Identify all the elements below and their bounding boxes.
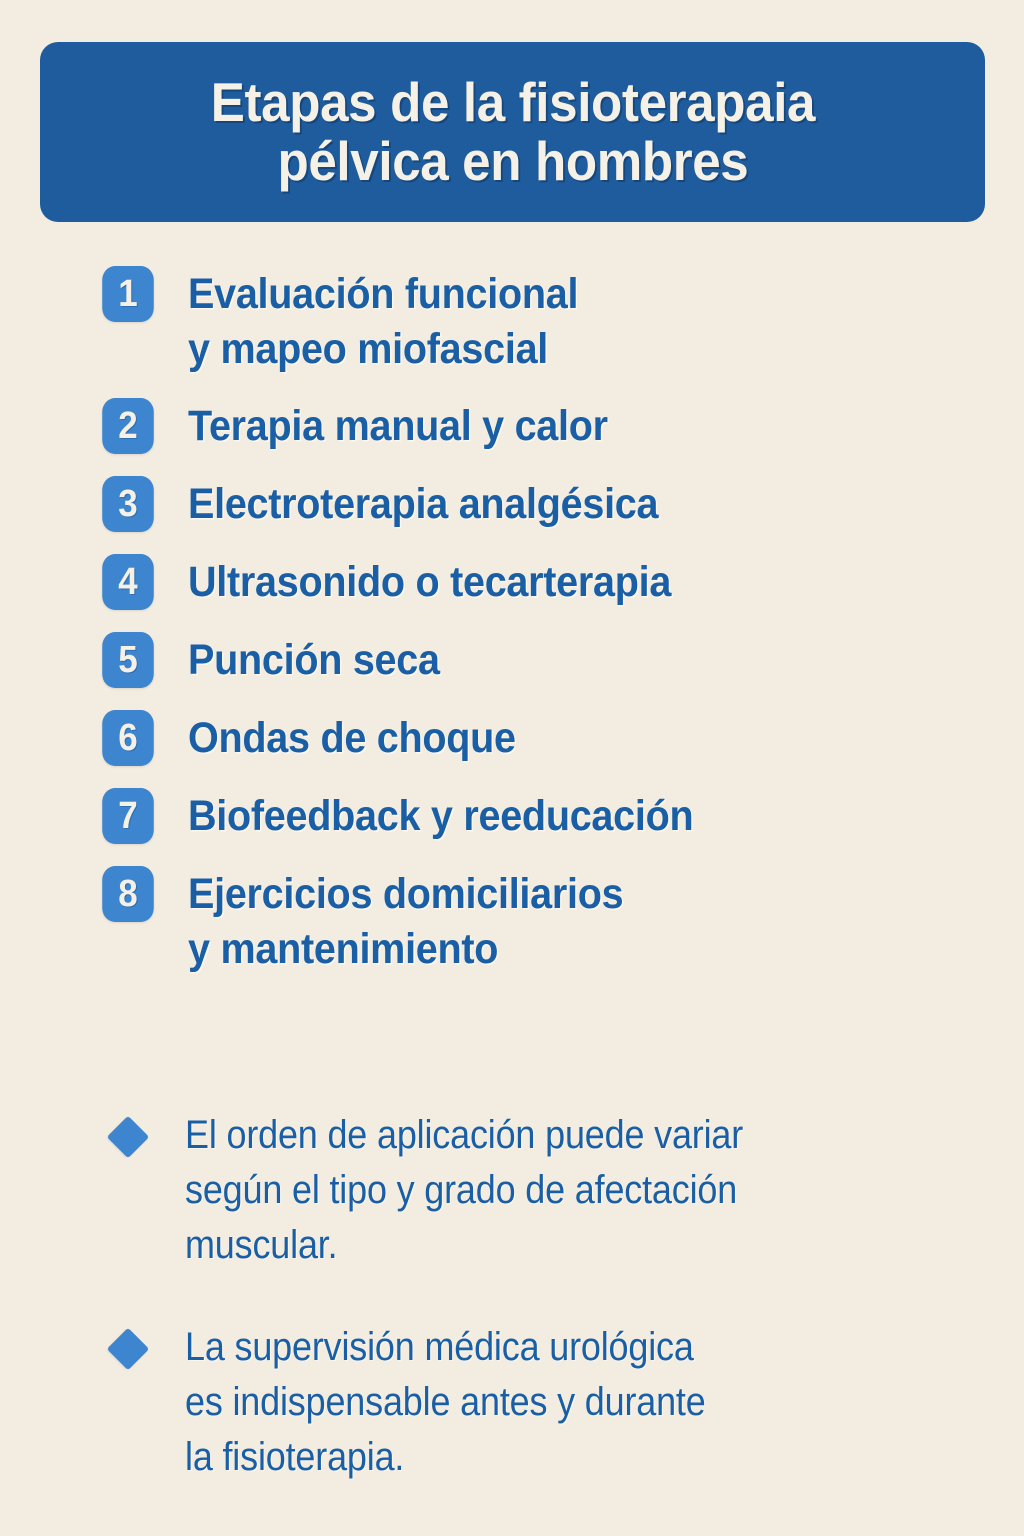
step-label: Punción seca <box>188 632 440 688</box>
step-label: Electroterapia analgésica <box>188 476 658 532</box>
header-banner: Etapas de la fisioterapaia pélvica en ho… <box>40 42 985 222</box>
list-item: 7 Biofeedback y reeducación <box>0 788 1024 844</box>
list-item: 1 Evaluación funcional y mapeo miofascia… <box>0 266 1024 376</box>
list-item: 4 Ultrasonido o tecarterapia <box>0 554 1024 610</box>
list-item: La supervisión médica urológica es indis… <box>0 1320 1024 1484</box>
list-item: El orden de aplicación puede variar segú… <box>0 1108 1024 1272</box>
step-number-badge: 3 <box>102 476 154 532</box>
step-number-badge: 5 <box>102 632 154 688</box>
notes-list: El orden de aplicación puede variar segú… <box>0 1108 1024 1533</box>
step-number-badge: 8 <box>102 866 154 922</box>
step-label: Biofeedback y reeducación <box>188 788 693 844</box>
page-title: Etapas de la fisioterapaia pélvica en ho… <box>210 73 814 192</box>
list-item: 8 Ejercicios domiciliarios y mantenimien… <box>0 866 1024 976</box>
step-label: Ultrasonido o tecarterapia <box>188 554 671 610</box>
list-item: 3 Electroterapia analgésica <box>0 476 1024 532</box>
step-number-badge: 7 <box>102 788 154 844</box>
list-item: 6 Ondas de choque <box>0 710 1024 766</box>
step-number-badge: 2 <box>102 398 154 454</box>
step-label: Ejercicios domiciliarios y mantenimiento <box>188 866 623 976</box>
step-label: Ondas de choque <box>188 710 516 766</box>
step-number-badge: 4 <box>102 554 154 610</box>
step-number-badge: 1 <box>102 266 154 322</box>
list-item: 2 Terapia manual y calor <box>0 398 1024 454</box>
note-text: La supervisión médica urológica es indis… <box>185 1320 706 1484</box>
infographic-poster: Etapas de la fisioterapaia pélvica en ho… <box>0 0 1024 1536</box>
diamond-bullet-icon <box>107 1328 149 1370</box>
list-item: 5 Punción seca <box>0 632 1024 688</box>
step-label: Evaluación funcional y mapeo miofascial <box>188 266 578 376</box>
steps-list: 1 Evaluación funcional y mapeo miofascia… <box>0 266 1024 998</box>
note-text: El orden de aplicación puede variar segú… <box>185 1108 743 1272</box>
diamond-bullet-icon <box>107 1116 149 1158</box>
step-label: Terapia manual y calor <box>188 398 608 454</box>
step-number-badge: 6 <box>102 710 154 766</box>
